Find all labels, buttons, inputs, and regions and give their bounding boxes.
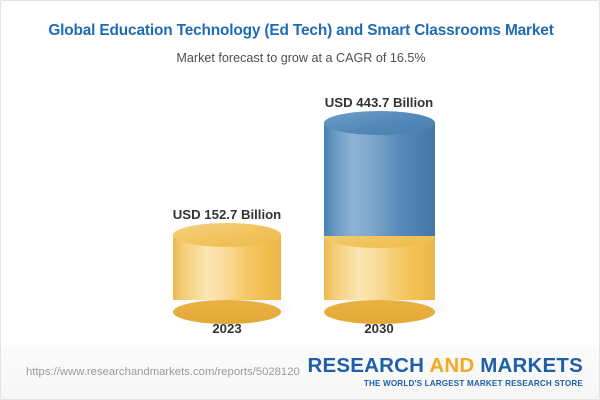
- value-label-2030: USD 443.7 Billion: [299, 95, 459, 110]
- chart-card: Global Education Technology (Ed Tech) an…: [0, 0, 600, 400]
- cylinder-top-2030: [324, 111, 435, 135]
- bar-2023[interactable]: [173, 223, 281, 312]
- value-label-2023: USD 152.7 Billion: [147, 207, 307, 222]
- logo-word-research: RESEARCH: [308, 354, 430, 377]
- cylinder-top-2023: [173, 223, 281, 247]
- category-label-2023: 2023: [147, 321, 307, 336]
- footer: https://www.researchandmarkets.com/repor…: [1, 346, 600, 399]
- cylinder-2030: [324, 111, 435, 312]
- cylinder-2023: [173, 223, 281, 312]
- logo-word-markets: MARKETS: [474, 354, 583, 377]
- report-url[interactable]: https://www.researchandmarkets.com/repor…: [26, 366, 300, 378]
- logo-wordmark: RESEARCH AND MARKETS: [308, 355, 583, 377]
- bar-2030[interactable]: [324, 111, 435, 312]
- cylinder-segment-blue-2030: [324, 123, 435, 236]
- logo-word-and: AND: [429, 354, 474, 377]
- brand-logo[interactable]: RESEARCH AND MARKETS THE WORLD'S LARGEST…: [308, 355, 583, 388]
- category-label-2030: 2030: [299, 321, 459, 336]
- chart-plot-area: USD 152.7 Billion 2023 USD 443.7 Billion…: [1, 1, 600, 346]
- logo-tagline: THE WORLD'S LARGEST MARKET RESEARCH STOR…: [308, 379, 583, 388]
